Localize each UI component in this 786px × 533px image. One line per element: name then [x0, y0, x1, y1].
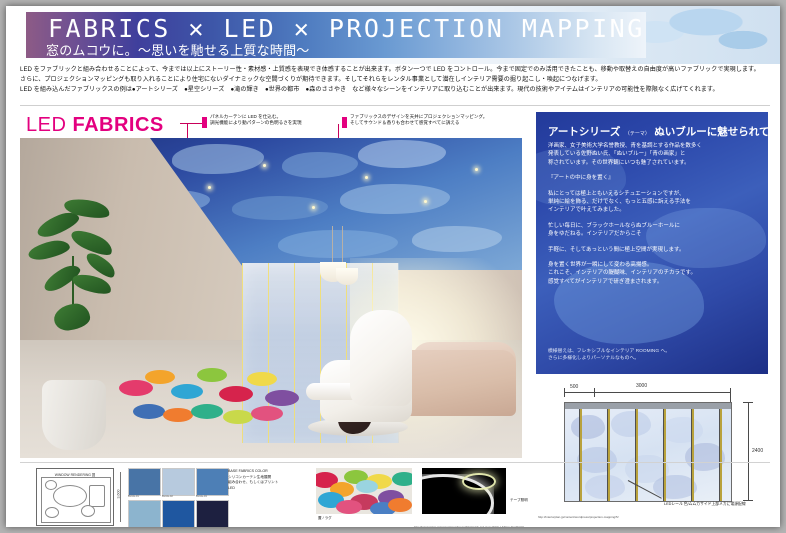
rug-dot	[171, 384, 203, 399]
planter-pot	[42, 380, 106, 450]
ceiling-led-point	[312, 206, 315, 209]
dim-tick	[743, 500, 753, 501]
elevation-blob	[571, 415, 605, 439]
dim-tick	[743, 402, 753, 403]
art-panel-body: 洋画家、女子美術大学名誉教授、青を基調とする作品を数多く 発表している佐野ぬい氏…	[548, 142, 760, 293]
header-paragraph-2: さらに、プロジェクションマッピングも取り入れることにより住宅にないダイナミックな…	[20, 76, 770, 85]
fabric-swatch	[162, 468, 195, 496]
rug-dot	[133, 404, 165, 419]
art-footer-line-1: 模様替えは、フレキシブルなインテリア ROOMING へ。	[548, 348, 760, 355]
ceiling-blob	[278, 230, 398, 258]
chair-backrest	[350, 310, 412, 406]
elevation-head-rail	[565, 403, 731, 409]
rug-dot	[247, 372, 277, 386]
rug-dot	[251, 406, 283, 421]
presentation-board: FABRICS ✕ LED ✕ PROJECTION MAPPING 窓のムコウ…	[0, 0, 786, 533]
fabric-swatch	[196, 500, 229, 527]
elevation-mullion	[719, 409, 722, 501]
art-heading-tag: （テーマ）	[625, 131, 650, 137]
rug-dot	[219, 386, 253, 402]
rug-dot	[197, 368, 227, 382]
plan-plant	[45, 480, 57, 490]
led-fabrics-title-bold: FABRICS	[72, 114, 163, 136]
art-body-paragraph: 身を置く世界が一瞬にして変わる高揚感。 これこそ、インテリアの醍醐味、インテリア…	[548, 261, 760, 286]
page-title: FABRICS ✕ LED ✕ PROJECTION MAPPING	[48, 14, 645, 43]
callout-right-line-1: ファブリックスのデザインを天井にプロジェクションマッピング。	[350, 114, 487, 119]
color-dot-rug	[115, 360, 330, 438]
art-panel-heading: アートシリーズ （テーマ） ぬいブルーに魅せられて	[548, 122, 768, 140]
art-series-panel: アートシリーズ （テーマ） ぬいブルーに魅せられて 洋画家、女子美術大学名誉教授…	[536, 112, 768, 374]
ceiling-blob	[340, 184, 450, 214]
bottom-divider	[20, 462, 770, 463]
ceiling-blob	[358, 140, 446, 168]
fabric-swatch	[162, 500, 195, 527]
elevation-source-url: http://interiorplan.jp/content/wordpress…	[538, 515, 619, 519]
header-description: LED をファブリックと組み合わせることによって、今までは以上にストーリー性・素…	[20, 66, 770, 96]
elevation-mullion	[635, 409, 638, 501]
art-body-paragraph: 『アートの中に身を置く』	[548, 174, 760, 182]
ceiling-led-point	[208, 186, 211, 189]
led-fabrics-title: LED FABRICS	[26, 114, 164, 137]
art-body-paragraph: 私にとっては極上ともいえるシチュエーションですが、 単純に絵を飾る、だけでなく、…	[548, 190, 760, 215]
plan-plant	[45, 507, 59, 518]
rug-photo-caption: 置 / ラグ	[318, 516, 332, 521]
page-subtitle: 窓のムコウに。～思いを馳せる上質な時間～	[46, 40, 309, 59]
callout-left-line-2: 調光機能により動パターンの色明るさを実現	[210, 120, 302, 125]
dim-line-width	[564, 392, 730, 393]
elevation-mullion	[663, 409, 666, 501]
callout-left-text: パネルカーテンに LED を仕込む。 調光機能により動パターンの色明るさを実現	[210, 114, 302, 126]
pendant-lamp	[336, 268, 358, 285]
swatch-notes: BASE FABRICS COLOR シリコンカーテン生地展開 組み合わせ、もし…	[228, 469, 278, 491]
art-body-paragraph: 忙しい毎日に、ブラックホールならぬブルーホールに 身をゆだねる。インテリアだから…	[548, 222, 760, 239]
rug-dot	[163, 408, 193, 422]
ceiling-blob	[172, 144, 264, 174]
dim-tick	[730, 388, 731, 402]
rug-dot	[119, 380, 153, 396]
fabric-swatch	[128, 500, 161, 527]
swatch-note-2: 組み合わせ、もしくはプリント	[228, 480, 278, 486]
rug-dot	[145, 370, 175, 384]
rug-photo-dot	[356, 480, 378, 493]
art-panel-footer: 模様替えは、フレキシブルなインテリア ROOMING へ。 さらに多様化しよりパ…	[548, 348, 760, 362]
led-fabrics-title-thin: LED	[26, 114, 66, 136]
art-heading-rest: ぬいブルーに魅せられて	[654, 126, 768, 138]
plan-sofa	[89, 485, 105, 507]
elevation-blob	[611, 411, 651, 437]
header-paragraph-3: LED を組み込んだファブリックスの例は●アートシリーズ ●星空シリーズ ●滝の…	[20, 86, 770, 95]
ceiling-blob	[282, 152, 358, 178]
plan-chair	[81, 505, 95, 517]
rug-dot	[191, 404, 223, 419]
callout-right: ファブリックスのデザインを天井にプロジェクションマッピング。 そしてサウンド＆香…	[342, 114, 487, 128]
elevation-mullion	[579, 409, 582, 501]
elevation-drawing: 500 3000 2400	[536, 380, 774, 522]
art-body-paragraph: 手軽に、そしてあっという間に極上空間が実現します。	[548, 246, 760, 254]
ceiling-led-point	[424, 200, 427, 203]
swatch-code: BLUE-03	[196, 495, 207, 498]
elevation-mullion	[691, 409, 694, 501]
swatch-note-3: LED	[228, 486, 278, 492]
callout-right-text: ファブリックスのデザインを天井にプロジェクションマッピング。 そしてサウンド＆香…	[350, 114, 487, 126]
ceiling-led-point	[263, 164, 266, 167]
elevation-blob	[585, 475, 625, 499]
tape-light-photo	[422, 468, 506, 514]
art-body-paragraph: 洋画家、女子美術大学名誉教授、青を基調とする作品を数多く 発表している佐野ぬい氏…	[548, 142, 760, 167]
elevation-blob	[661, 417, 703, 443]
fabric-swatch	[196, 468, 229, 496]
ceiling-led-point	[475, 168, 478, 171]
header-divider	[20, 105, 770, 106]
swatch-code: BLUE-02	[162, 495, 173, 498]
callout-bar-icon-2	[342, 117, 347, 128]
art-footer-line-2: さらに多様化しよりパーソナルなものへ。	[548, 355, 760, 362]
callout-bar-icon	[202, 117, 207, 128]
fabric-swatch	[128, 468, 161, 496]
callout-right-line-2: そしてサウンド＆香りも合わせて感覚すべてに訴える	[350, 120, 459, 125]
callout-left: パネルカーテンに LED を仕込む。 調光機能により動パターンの色明るさを実現	[202, 114, 302, 128]
floor-plan-drawing: WINDOW RENDERING 図	[36, 468, 114, 526]
rug-dot	[223, 410, 253, 424]
ceiling-led-point	[365, 176, 368, 179]
ceiling-blob	[412, 226, 502, 252]
pendant-cord	[332, 226, 333, 264]
elevation-note: LEDレール 色/ムムカサイド上部メカに電源配線	[664, 502, 746, 507]
dim-line-height	[748, 402, 749, 500]
sofa	[398, 350, 516, 416]
elevation-blob	[577, 447, 617, 473]
rug-photo	[316, 468, 412, 514]
panel-curtain-elevation	[564, 402, 732, 502]
rug-photo-dot	[336, 500, 362, 514]
header-paragraph-1: LED をファブリックと組み合わせることによって、今までは以上にストーリー性・素…	[20, 66, 770, 75]
tape-light-ring	[462, 473, 496, 490]
callout-left-line-1: パネルカーテンに LED を仕込む。	[210, 114, 281, 119]
poster-sheet: FABRICS ✕ LED ✕ PROJECTION MAPPING 窓のムコウ…	[6, 6, 780, 527]
plan-dim-depth: 3,600	[117, 490, 121, 499]
rug-dot	[265, 390, 299, 406]
rug-photo-dot	[388, 498, 412, 512]
plan-rug	[53, 485, 87, 507]
tape-photo-caption: テープ照明	[510, 498, 528, 503]
dim-label-width: 3000	[636, 383, 647, 389]
elevation-mullion	[607, 409, 610, 501]
rug-photo-dot	[392, 472, 412, 486]
dim-label-height: 2400	[752, 448, 763, 454]
interior-rendering	[20, 138, 522, 458]
art-heading-main: アートシリーズ	[548, 126, 620, 138]
dim-label-panel: 500	[570, 384, 578, 390]
swatch-code: BLUE-01	[128, 495, 139, 498]
source-url: http://interiorplan.jp/content/wordpress…	[414, 525, 524, 527]
